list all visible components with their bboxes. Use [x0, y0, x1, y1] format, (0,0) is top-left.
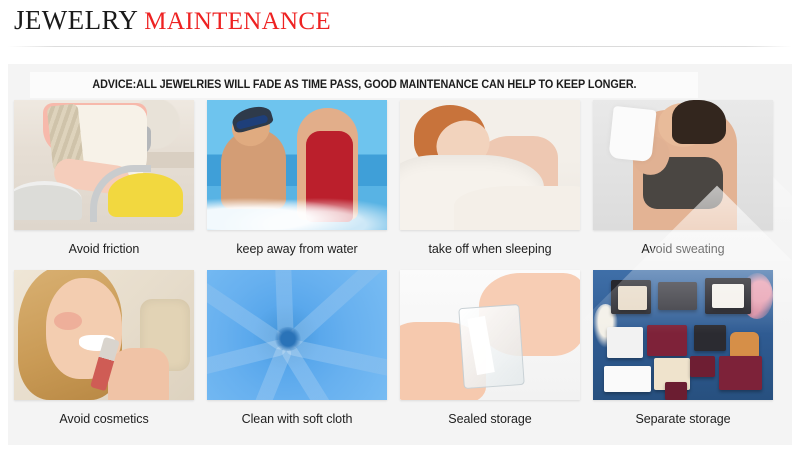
page-title: JEWELRYMAINTENANCE: [14, 7, 331, 34]
card-caption: Clean with soft cloth: [207, 400, 387, 440]
card-caption: keep away from water: [207, 230, 387, 270]
maintenance-panel: ADVICE:ALL JEWELRIES WILL FADE AS TIME P…: [8, 64, 792, 445]
page-title-main: JEWELRY: [14, 5, 138, 35]
woman-wiping-sweat-photo: [593, 100, 773, 230]
maintenance-card[interactable]: Separate storage: [593, 270, 786, 440]
advice-text: ADVICE:ALL JEWELRIES WILL FADE AS TIME P…: [92, 79, 636, 91]
jewelry-boxes-photo: [593, 270, 773, 400]
maintenance-card[interactable]: Sealed storage: [400, 270, 593, 440]
woman-sleeping-photo: [400, 100, 580, 230]
hands-sealing-plastic-bag-photo: [400, 270, 580, 400]
woman-washing-dishes-photo: [14, 100, 194, 230]
maintenance-card[interactable]: Avoid cosmetics: [14, 270, 207, 440]
advice-banner: ADVICE:ALL JEWELRIES WILL FADE AS TIME P…: [30, 72, 698, 98]
swimmers-in-pool-photo: [207, 100, 387, 230]
maintenance-card[interactable]: Avoid friction: [14, 100, 207, 270]
maintenance-card[interactable]: Clean with soft cloth: [207, 270, 400, 440]
maintenance-card[interactable]: take off when sleeping: [400, 100, 593, 270]
page-header: JEWELRYMAINTENANCE: [0, 0, 800, 48]
header-divider: [8, 46, 792, 47]
maintenance-card[interactable]: keep away from water: [207, 100, 400, 270]
card-caption: take off when sleeping: [400, 230, 580, 270]
maintenance-card-grid: Avoid friction keep away from water take…: [14, 100, 786, 440]
card-caption: Sealed storage: [400, 400, 580, 440]
blue-soft-cloth-photo: [207, 270, 387, 400]
maintenance-card[interactable]: Avoid sweating: [593, 100, 786, 270]
card-caption: Avoid sweating: [593, 230, 773, 270]
card-caption: Avoid friction: [14, 230, 194, 270]
card-caption: Separate storage: [593, 400, 773, 440]
card-caption: Avoid cosmetics: [14, 400, 194, 440]
page-title-accent: MAINTENANCE: [144, 8, 331, 35]
woman-applying-lipstick-photo: [14, 270, 194, 400]
